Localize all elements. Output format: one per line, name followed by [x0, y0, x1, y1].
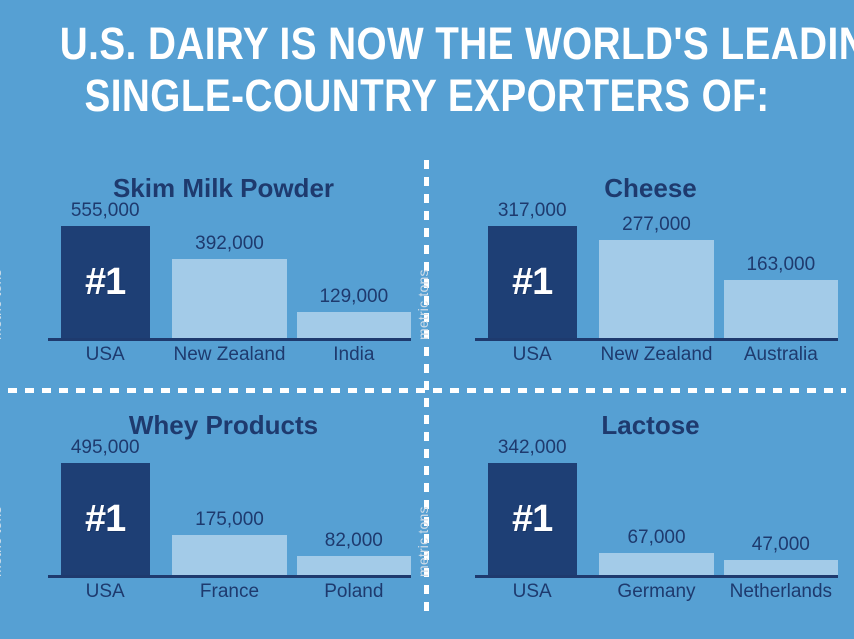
bar-value-label: 163,000 [704, 254, 854, 276]
x-axis-baseline [475, 338, 838, 341]
bar-slot: 129,000 [297, 207, 411, 338]
rank-badge: #1 [512, 500, 552, 538]
bar-primary: #1 [488, 226, 577, 338]
x-axis-baseline [475, 575, 838, 578]
category-label: USA [48, 581, 162, 629]
chart-title: Cheese [457, 173, 844, 203]
bar-secondary [724, 280, 838, 338]
bar-group: 317,000#1277,000163,000 [475, 207, 838, 338]
y-axis-label: metric tons [415, 506, 431, 577]
category-label: New Zealand [599, 344, 713, 392]
x-axis-baseline [48, 575, 411, 578]
category-label-group: USANew ZealandAustralia [475, 344, 838, 392]
bar-secondary [599, 240, 713, 338]
bar-value-label: 82,000 [277, 530, 431, 552]
bar-slot: 392,000 [172, 207, 286, 338]
bar-primary: #1 [61, 226, 150, 338]
bar-secondary [172, 535, 286, 575]
bar-primary: #1 [488, 463, 577, 575]
category-label: Australia [724, 344, 838, 392]
chart-panel-cheese: Cheese metric tons 317,000#1277,000163,0… [427, 165, 854, 402]
bar-value-label: 277,000 [579, 214, 733, 236]
bar-slot: 342,000#1 [475, 444, 589, 575]
rank-badge: #1 [85, 263, 125, 301]
bar-slot: 495,000#1 [48, 444, 162, 575]
bar-secondary [724, 560, 838, 575]
plot-area: 495,000#1175,00082,000 [48, 444, 411, 578]
category-label-group: USAGermanyNetherlands [475, 581, 838, 629]
bar-slot: 82,000 [297, 444, 411, 575]
page-headline: U.S. Dairy is now the world's leading si… [60, 18, 794, 122]
y-axis-label: metric tons [0, 269, 4, 340]
category-label-group: USANew ZealandIndia [48, 344, 411, 392]
plot-area: 317,000#1277,000163,000 [475, 207, 838, 341]
bar-slot: 555,000#1 [48, 207, 162, 338]
chart-panel-lactose: Lactose metric tons 342,000#167,00047,00… [427, 402, 854, 639]
x-axis-baseline [48, 338, 411, 341]
bar-secondary [297, 556, 411, 575]
y-axis-label: metric tons [415, 269, 431, 340]
plot-area: 342,000#167,00047,000 [475, 444, 838, 578]
category-label: USA [475, 581, 589, 629]
chart-title: Whey Products [30, 410, 417, 440]
chart-title: Skim Milk Powder [30, 173, 417, 203]
category-label: USA [475, 344, 589, 392]
bar-group: 555,000#1392,000129,000 [48, 207, 411, 338]
bar-group: 342,000#167,00047,000 [475, 444, 838, 575]
bar-secondary [172, 259, 286, 338]
bar-secondary [297, 312, 411, 338]
category-label: France [172, 581, 286, 629]
category-label-group: USAFrancePoland [48, 581, 411, 629]
category-label: India [297, 344, 411, 392]
headline-line-2: single-country exporters of: [60, 70, 794, 122]
rank-badge: #1 [85, 500, 125, 538]
y-axis-label: metric tons [0, 506, 4, 577]
bar-value-label: 392,000 [152, 233, 306, 255]
category-label: Germany [599, 581, 713, 629]
bar-value-label: 495,000 [28, 437, 182, 459]
category-label: USA [48, 344, 162, 392]
bar-value-label: 555,000 [28, 200, 182, 222]
chart-panel-skim-milk-powder: Skim Milk Powder metric tons 555,000#139… [0, 165, 427, 402]
bar-value-label: 175,000 [152, 509, 306, 531]
category-label: New Zealand [172, 344, 286, 392]
category-label: Netherlands [724, 581, 838, 629]
bar-slot: 317,000#1 [475, 207, 589, 338]
chart-title: Lactose [457, 410, 844, 440]
bar-value-label: 47,000 [704, 534, 854, 556]
bar-value-label: 342,000 [455, 437, 609, 459]
bar-group: 495,000#1175,00082,000 [48, 444, 411, 575]
bar-slot: 163,000 [724, 207, 838, 338]
chart-panel-whey-products: Whey Products metric tons 495,000#1175,0… [0, 402, 427, 639]
bar-slot: 175,000 [172, 444, 286, 575]
bar-primary: #1 [61, 463, 150, 575]
plot-area: 555,000#1392,000129,000 [48, 207, 411, 341]
category-label: Poland [297, 581, 411, 629]
rank-badge: #1 [512, 263, 552, 301]
bar-secondary [599, 553, 713, 575]
bar-slot: 47,000 [724, 444, 838, 575]
bar-slot: 277,000 [599, 207, 713, 338]
bar-slot: 67,000 [599, 444, 713, 575]
bar-value-label: 129,000 [277, 286, 431, 308]
headline-line-1: U.S. Dairy is now the world's leading [60, 18, 794, 70]
